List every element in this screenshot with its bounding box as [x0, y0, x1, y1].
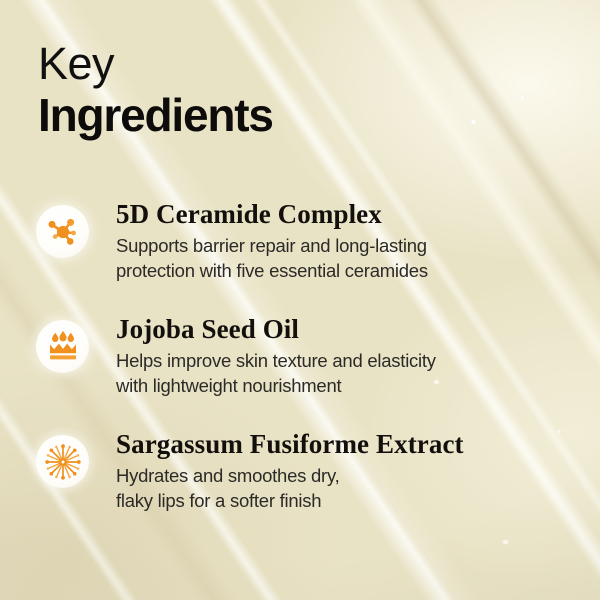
ingredient-title: Jojoba Seed Oil [116, 313, 436, 345]
starburst-icon [36, 435, 89, 488]
page-title-line-1: Key [38, 38, 273, 90]
ingredient-description: Hydrates and smoothes dry, flaky lips fo… [116, 463, 464, 513]
oil-droplets-crown-icon [36, 320, 89, 373]
page-title: Key Ingredients [38, 38, 273, 140]
ingredient-item-jojoba: Jojoba Seed Oil Helps improve skin textu… [36, 313, 576, 415]
ingredient-description-line-1: Hydrates and smoothes dry, [116, 463, 464, 488]
molecule-icon [36, 205, 89, 258]
ingredient-description-line-1: Supports barrier repair and long-lasting [116, 233, 428, 258]
ingredient-list: 5D Ceramide Complex Supports barrier rep… [36, 198, 576, 530]
ingredient-item-sargassum: Sargassum Fusiforme Extract Hydrates and… [36, 428, 576, 530]
ingredient-description-line-2: flaky lips for a softer finish [116, 488, 464, 513]
ingredient-title: Sargassum Fusiforme Extract [116, 428, 464, 460]
ingredient-description-line-1: Helps improve skin texture and elasticit… [116, 348, 436, 373]
ingredient-text-ceramide: 5D Ceramide Complex Supports barrier rep… [89, 198, 428, 283]
ingredient-description-line-2: with lightweight nourishment [116, 373, 436, 398]
ingredient-text-sargassum: Sargassum Fusiforme Extract Hydrates and… [89, 428, 464, 513]
ingredient-item-ceramide: 5D Ceramide Complex Supports barrier rep… [36, 198, 576, 300]
poster-content: Key Ingredients [0, 0, 600, 600]
ingredient-description-line-2: protection with five essential ceramides [116, 258, 428, 283]
ingredient-description: Helps improve skin texture and elasticit… [116, 348, 436, 398]
page-title-line-2: Ingredients [38, 90, 273, 140]
key-ingredients-poster: Key Ingredients [0, 0, 600, 600]
ingredient-text-jojoba: Jojoba Seed Oil Helps improve skin textu… [89, 313, 436, 398]
ingredient-title: 5D Ceramide Complex [116, 198, 428, 230]
ingredient-description: Supports barrier repair and long-lasting… [116, 233, 428, 283]
